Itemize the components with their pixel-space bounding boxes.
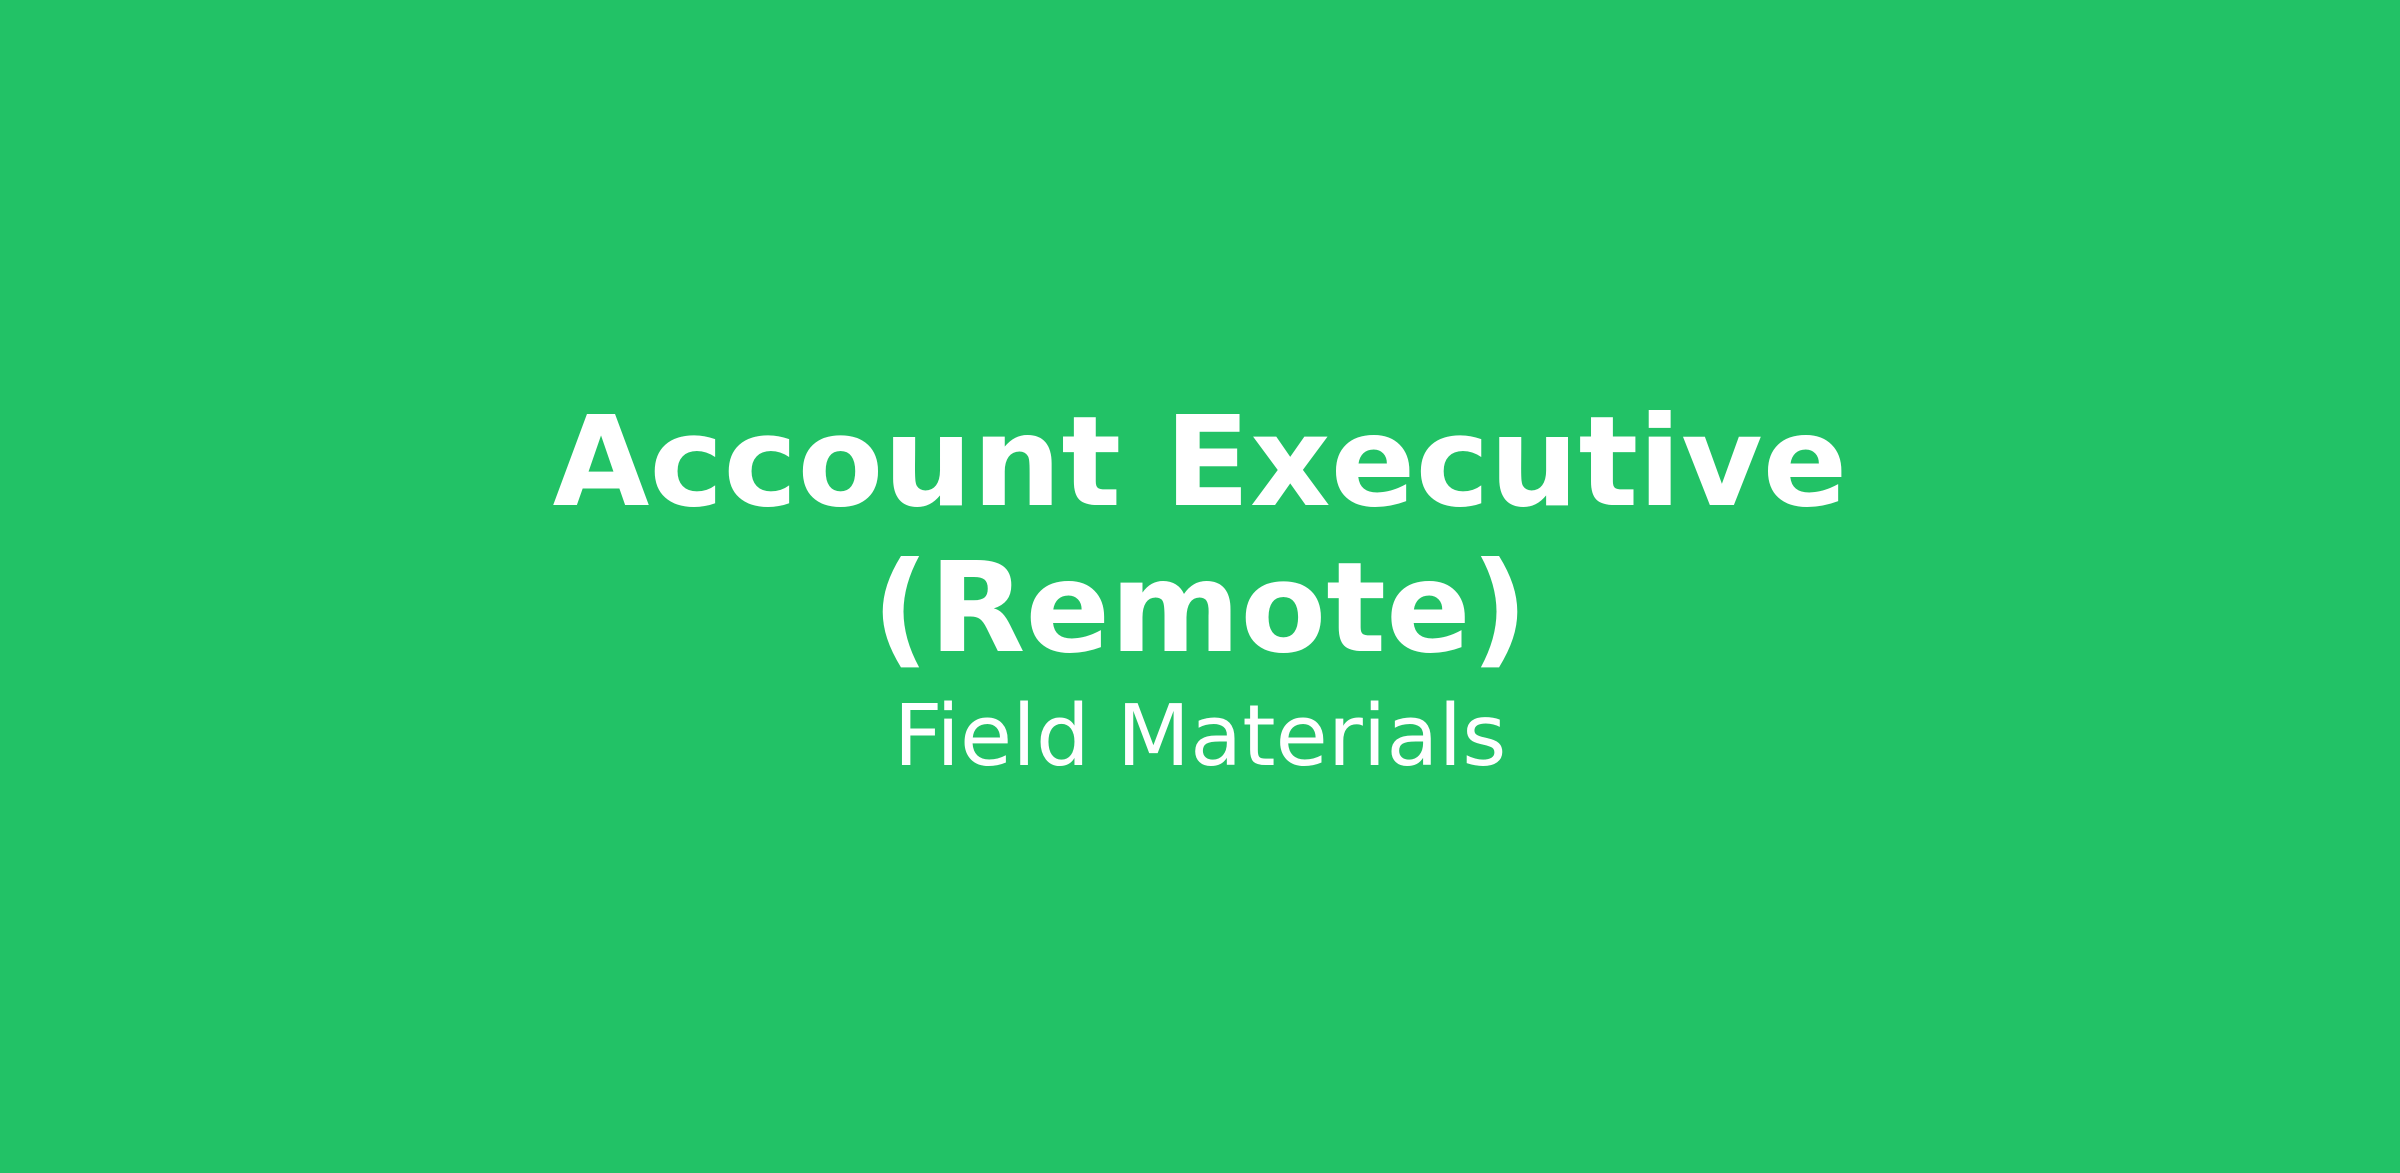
- title-block: Account Executive (Remote) Field Materia…: [550, 390, 1850, 784]
- title-slide: Account Executive (Remote) Field Materia…: [0, 0, 2400, 1173]
- page-title: Account Executive (Remote): [550, 390, 1850, 683]
- page-subtitle: Field Materials: [894, 682, 1507, 784]
